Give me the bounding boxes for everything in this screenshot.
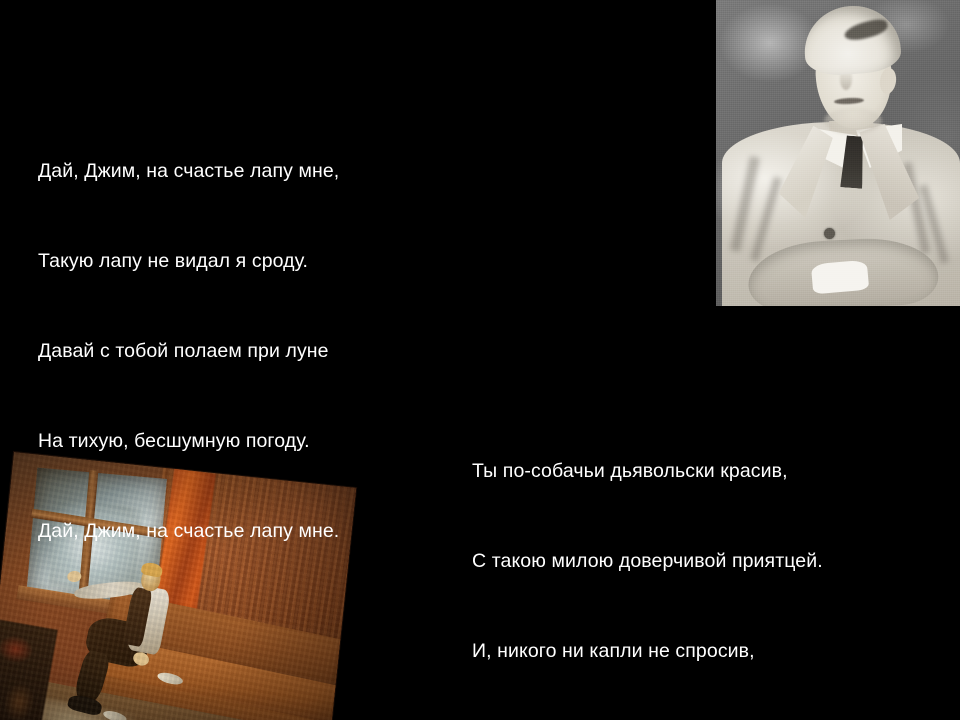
portrait-chin [824, 108, 882, 134]
poet-portrait-photograph [716, 0, 960, 306]
portrait-shirt-cuff [811, 260, 869, 295]
poem-line: Дай, Джим, на счастье лапу мне, [38, 156, 498, 186]
poem-line: И, никого ни капли не спросив, [472, 636, 952, 666]
poem-line: Давай с тобой полаем при луне [38, 336, 498, 366]
poem-stanza: Дай, Джим, на счастье лапу мне, Такую ла… [38, 96, 498, 606]
poem-line: Ты по-собачьи дьявольски красив, [472, 456, 952, 486]
poem-line: На тихую, бесшумную погоду. [38, 426, 498, 456]
poem-stanza: Ты по-собачьи дьявольски красив, С такою… [472, 396, 952, 720]
poem-poster: Дай, Джим, на счастье лапу мне, Такую ла… [0, 0, 960, 720]
poem-line: Дай, Джим, на счастье лапу мне. [38, 516, 498, 546]
poem-left-column: Дай, Джим, на счастье лапу мне, Такую ла… [38, 6, 498, 720]
poem-line: С такою милою доверчивой приятцей. [472, 546, 952, 576]
poem-right-column: Ты по-собачьи дьявольски красив, С такою… [472, 306, 952, 720]
poem-line: Такую лапу не видал я сроду. [38, 246, 498, 276]
portrait-button [824, 228, 835, 239]
